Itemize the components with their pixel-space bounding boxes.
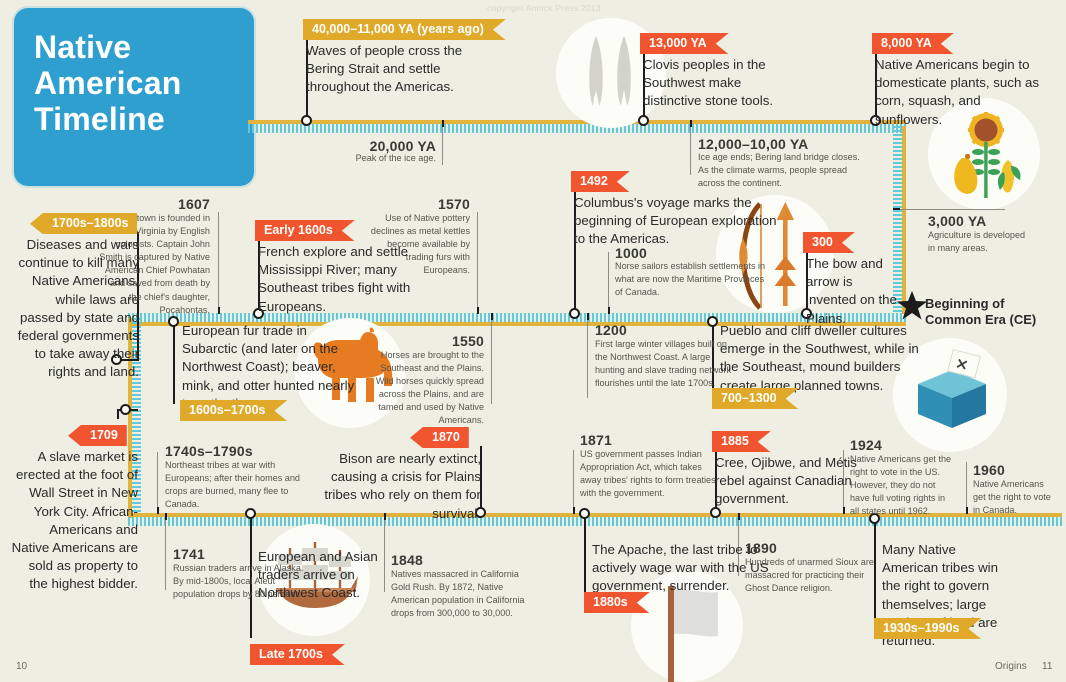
body-1885: Cree, Ojibwe, and Métis rebel against Ca… xyxy=(715,454,867,509)
title-line-1: Native xyxy=(34,30,254,66)
body-1492: Columbus's voyage marks the beginning of… xyxy=(574,194,784,249)
infographic-page: Native American Timeline copyright Annic… xyxy=(0,0,1066,682)
body-1709: A slave market is erected at the foot of… xyxy=(10,448,138,594)
body-1200: First large winter villages built on the… xyxy=(595,338,737,390)
year-1570: 1570 xyxy=(370,196,470,212)
leader-12000-ya xyxy=(690,127,691,175)
body-700-1300: Pueblo and cliff dweller cultures emerge… xyxy=(720,322,928,395)
tick-1890 xyxy=(738,513,740,520)
flag-1930s-1990s: 1930s–1990s xyxy=(874,618,981,639)
flag-early-1600s: Early 1600s xyxy=(255,220,355,241)
flag-1709: 1709 xyxy=(68,425,127,446)
body-20000-ya: Peak of the ice age. xyxy=(330,152,436,165)
leader-1550 xyxy=(491,320,492,404)
year-1924: 1924 xyxy=(850,437,978,453)
tick-1740s xyxy=(157,507,159,514)
leader-1871 xyxy=(573,450,574,508)
timeline-track-row1 xyxy=(248,120,906,133)
body-late-1700s: European and Asian traders arrive on Nor… xyxy=(258,548,378,603)
leader-1709-stub xyxy=(117,409,119,419)
year-1960: 1960 xyxy=(973,462,1063,478)
flag-700-1300: 700–1300 xyxy=(712,388,799,409)
flag-1870: 1870 xyxy=(410,427,469,448)
tick-20000-ya xyxy=(442,120,444,127)
flag-1885: 1885 xyxy=(712,431,771,452)
flag-late-1700s: Late 1700s xyxy=(250,644,345,665)
leader-1741 xyxy=(165,520,166,590)
body-1848: Natives massacred in California Gold Rus… xyxy=(391,568,533,620)
body-8000-ya: Native Americans begin to domesticate pl… xyxy=(875,56,1047,129)
body-1550: Horses are brought to the Southeast and … xyxy=(368,349,484,428)
body-1700s-1800s: Diseases and wars continue to kill many … xyxy=(14,236,139,382)
tick-1570 xyxy=(477,307,479,314)
year-1607: 1607 xyxy=(110,196,210,212)
body-1924: Native Americans get the right to vote i… xyxy=(850,453,954,518)
leader-1000 xyxy=(608,252,609,308)
body-1740s-1790s: Northeast tribes at war with Europeans; … xyxy=(165,459,307,511)
tick-1741 xyxy=(165,513,167,520)
tick-3000-ya xyxy=(893,208,900,210)
body-13000-ya: Clovis peoples in the Southwest make dis… xyxy=(643,56,793,111)
body-early-1600s: French explore and settle Mississippi Ri… xyxy=(258,243,426,316)
star-icon xyxy=(897,291,927,321)
leader-1200 xyxy=(587,320,588,398)
node-1492[interactable] xyxy=(569,308,580,319)
node-40000-ya[interactable] xyxy=(301,115,312,126)
flag-300: 300 xyxy=(803,232,855,253)
tick-1871 xyxy=(573,507,575,514)
node-1880s[interactable] xyxy=(579,508,590,519)
year-1871: 1871 xyxy=(580,432,720,448)
tick-1607 xyxy=(218,307,220,314)
ce-marker-line-1: Beginning of xyxy=(925,296,1036,312)
year-1890: 1890 xyxy=(745,540,875,556)
year-1200: 1200 xyxy=(595,322,735,338)
body-1871: US government passes Indian Appropriatio… xyxy=(580,448,722,500)
white-flag-icon xyxy=(660,586,722,682)
body-1870: Bison are nearly extinct, causing a cris… xyxy=(315,450,481,523)
footer-section-label: Origins xyxy=(995,661,1027,672)
tick-12000-ya xyxy=(690,120,692,127)
node-13000-ya[interactable] xyxy=(638,115,649,126)
leader-1570 xyxy=(477,212,478,308)
stone-tools-icon xyxy=(582,34,642,112)
year-1740s-1790s: 1740s–1790s xyxy=(165,443,315,459)
title-card: Native American Timeline xyxy=(14,8,254,186)
title-line-2: American xyxy=(34,66,254,102)
tick-1200 xyxy=(587,313,589,320)
year-1000: 1000 xyxy=(615,245,765,261)
body-12000-ya: Ice age ends; Bering land bridge closes.… xyxy=(698,151,868,190)
tick-1960 xyxy=(966,507,968,514)
body-1960: Native Americans get the right to vote i… xyxy=(973,478,1057,517)
flag-40000-ya: 40,000–11,000 YA (years ago) xyxy=(303,19,506,40)
year-12000-ya: 12,000–10,00 YA xyxy=(698,136,858,152)
year-1550: 1550 xyxy=(382,333,484,349)
leader-20000-ya xyxy=(442,127,443,165)
leader-1880s xyxy=(584,514,586,596)
copyright-notice: copyright Annick Press 2013 xyxy=(487,3,601,13)
leader-1607 xyxy=(218,212,219,308)
year-3000-ya: 3,000 YA xyxy=(928,213,1048,229)
leader-1740s xyxy=(157,452,158,508)
flag-8000-ya: 8,000 YA xyxy=(872,33,954,54)
leader-1600s-1700s xyxy=(173,322,175,404)
node-1709[interactable] xyxy=(120,404,131,415)
body-40000-ya: Waves of people cross the Bering Strait … xyxy=(306,42,486,97)
leader-1960 xyxy=(966,462,967,508)
leader-3000-ya xyxy=(900,209,1005,210)
flag-13000-ya: 13,000 YA xyxy=(640,33,729,54)
year-1848: 1848 xyxy=(391,552,531,568)
flag-1600s-1700s: 1600s–1700s xyxy=(180,400,287,421)
title-line-3: Timeline xyxy=(34,102,254,138)
ce-marker: Beginning of Common Era (CE) xyxy=(925,296,1036,329)
ce-marker-line-2: Common Era (CE) xyxy=(925,312,1036,328)
flag-1492: 1492 xyxy=(571,171,630,192)
body-3000-ya: Agriculture is developed in many areas. xyxy=(928,229,1032,255)
flag-1700s-1800s: 1700s–1800s xyxy=(30,213,137,234)
body-1600s-1700s: European fur trade in Subarctic (and lat… xyxy=(182,322,360,413)
tick-1550 xyxy=(491,313,493,320)
node-1600s-1700s[interactable] xyxy=(168,316,179,327)
page-title: Native American Timeline xyxy=(14,8,254,137)
node-1885[interactable] xyxy=(710,507,721,518)
page-number-left: 10 xyxy=(16,661,27,672)
body-1890: Hundreds of unarmed Sioux are massacred … xyxy=(745,556,883,595)
page-number-right: 11 xyxy=(1042,661,1052,672)
body-300: The bow and arrow is invented on the Pla… xyxy=(806,255,902,328)
leader-1848 xyxy=(384,520,385,592)
tick-1000 xyxy=(608,307,610,314)
body-1000: Norse sailors establish settlements in w… xyxy=(615,260,767,299)
